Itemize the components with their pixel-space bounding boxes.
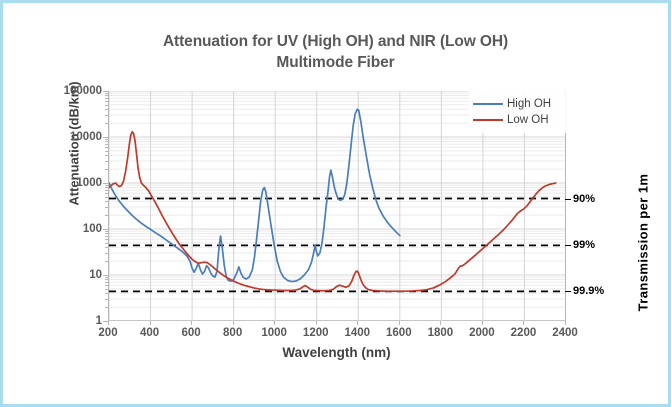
y-tick	[105, 193, 108, 194]
y-tick-label: 100000	[40, 85, 102, 97]
y-tick	[105, 139, 108, 140]
right-axis-tick-label: 90%	[573, 193, 595, 205]
y-tick-label: 10000	[40, 131, 102, 143]
right-axis-title: Transmission per 1m	[636, 128, 651, 358]
y-tick	[105, 144, 108, 145]
y-tick	[105, 215, 108, 216]
chart-figure: Attenuation for UV (High OH) and NIR (Lo…	[0, 0, 671, 407]
y-tick	[105, 261, 108, 262]
y-tick	[103, 137, 108, 138]
x-tick	[316, 321, 317, 325]
y-tick	[103, 229, 108, 230]
y-tick	[105, 197, 108, 198]
y-tick	[105, 105, 108, 106]
y-tick	[105, 282, 108, 283]
x-tick	[233, 321, 234, 325]
y-axis-title: Attenuation (dB/km)	[67, 39, 82, 249]
y-tick	[105, 141, 108, 142]
y-tick	[105, 155, 108, 156]
y-tick	[105, 115, 108, 116]
y-tick	[105, 236, 108, 237]
right-axis-tick	[565, 291, 571, 292]
x-tick-label: 2400	[540, 327, 590, 339]
y-tick	[105, 279, 108, 280]
y-tick	[105, 307, 108, 308]
y-tick	[105, 98, 108, 99]
y-tick-label: 100	[40, 223, 102, 235]
y-tick	[105, 101, 108, 102]
legend-swatch-high-oh	[473, 103, 503, 105]
y-tick	[105, 185, 108, 186]
x-tick	[565, 321, 566, 325]
x-axis-title: Wavelength (nm)	[108, 345, 565, 360]
x-tick	[108, 321, 109, 325]
right-axis-tick	[565, 199, 571, 200]
y-tick	[105, 95, 108, 96]
y-tick	[105, 109, 108, 110]
y-tick	[105, 187, 108, 188]
y-tick	[105, 147, 108, 148]
y-tick	[103, 183, 108, 184]
y-tick	[105, 93, 108, 94]
y-tick	[105, 151, 108, 152]
legend-item-high-oh[interactable]: High OH	[473, 96, 569, 112]
y-tick	[105, 207, 108, 208]
y-tick	[105, 299, 108, 300]
y-tick	[105, 201, 108, 202]
y-tick	[105, 289, 108, 290]
y-tick	[105, 190, 108, 191]
y-tick	[105, 161, 108, 162]
legend-item-low-oh[interactable]: Low OH	[473, 112, 569, 128]
right-axis-tick	[565, 245, 571, 246]
y-tick-label: 10	[40, 269, 102, 281]
y-tick	[105, 253, 108, 254]
right-axis-tick-label: 99%	[573, 239, 595, 251]
x-tick	[399, 321, 400, 325]
y-tick	[105, 239, 108, 240]
chart-title: Attenuation for UV (High OH) and NIR (Lo…	[3, 31, 668, 73]
y-tick	[105, 277, 108, 278]
chart-legend[interactable]: High OH Low OH	[469, 91, 573, 133]
y-tick	[105, 231, 108, 232]
x-tick	[482, 321, 483, 325]
legend-label-low-oh: Low OH	[507, 114, 549, 126]
x-tick	[357, 321, 358, 325]
chart-title-line-2: Multimode Fiber	[3, 52, 668, 73]
y-tick	[103, 91, 108, 92]
x-tick	[274, 321, 275, 325]
y-tick-label: 1	[40, 315, 102, 327]
x-tick	[150, 321, 151, 325]
y-tick-label: 1000	[40, 177, 102, 189]
x-tick	[440, 321, 441, 325]
legend-swatch-low-oh	[473, 119, 503, 121]
y-tick	[105, 293, 108, 294]
x-tick	[523, 321, 524, 325]
y-tick	[105, 243, 108, 244]
y-tick	[105, 285, 108, 286]
right-axis-tick-label: 99.9%	[573, 285, 604, 297]
y-tick	[105, 233, 108, 234]
chart-title-line-1: Attenuation for UV (High OH) and NIR (Lo…	[163, 33, 508, 50]
legend-label-high-oh: High OH	[507, 98, 551, 110]
y-tick	[105, 247, 108, 248]
y-tick	[103, 275, 108, 276]
y-tick	[105, 123, 108, 124]
y-tick	[105, 169, 108, 170]
x-tick	[191, 321, 192, 325]
